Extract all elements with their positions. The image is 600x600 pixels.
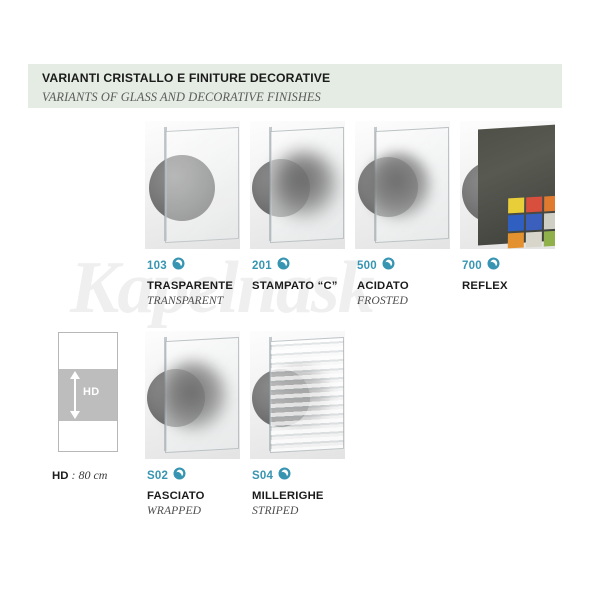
droplet-icon [382,257,395,275]
finish-code: S02 [147,470,168,482]
finish-name: MILLERIGHE [252,490,324,502]
finish-name: ACIDATO [357,280,409,292]
glass-sheen [165,127,239,243]
pane-outline [270,337,344,453]
hd-caption-value: : 80 cm [68,468,107,482]
code-row: 700 [462,258,508,274]
finish-code: 500 [357,260,377,272]
hd-band-label: HD [83,386,100,398]
code-row: S02 [147,468,205,484]
finish-code: 700 [462,260,482,272]
swatch [544,213,555,229]
hd-diagram: HD [58,332,118,452]
finish-name: FASCIATO [147,490,205,502]
code-row: 201 [252,258,338,274]
hd-caption-label: HD [52,470,68,482]
finish-name: REFLEX [462,280,508,292]
diffused-sphere [367,153,431,219]
color-swatch-chart [508,196,555,249]
finish-name: TRASPARENTE [147,280,233,292]
finish-image-201[interactable] [250,121,345,249]
hd-double-arrow-icon [69,371,81,419]
finish-image-S04[interactable] [250,331,345,459]
swatch [544,196,555,212]
swatch [508,215,524,231]
droplet-icon [173,467,186,485]
finish-name: STAMPATO “C” [252,280,338,292]
swatch [508,232,524,248]
diffused-sphere [161,361,227,431]
finish-image-700[interactable] [460,121,555,249]
finish-name-en: STRIPED [252,504,324,517]
finish-name-en: WRAPPED [147,504,205,517]
swatch [526,197,542,213]
finish-code: 201 [252,260,272,272]
swatch [508,198,524,214]
droplet-icon [487,257,500,275]
finish-caption-700: 700 REFLEX [462,258,508,294]
swatch [544,230,555,246]
code-row: 103 [147,258,233,274]
finish-name-en: TRANSPARENT [147,294,233,307]
finish-caption-103: 103 TRASPARENTE TRANSPARENT [147,258,233,307]
code-row: S04 [252,468,324,484]
swatch [526,214,542,230]
finish-image-103[interactable] [145,121,240,249]
droplet-icon [172,257,185,275]
code-row: 500 [357,258,409,274]
page-title: VARIANTI CRISTALLO E FINITURE DECORATIVE [42,71,330,85]
finish-caption-S04: S04 MILLERIGHE STRIPED [252,468,324,517]
page-subtitle: VARIANTS OF GLASS AND DECORATIVE FINISHE… [42,90,321,105]
finish-caption-500: 500 ACIDATO FROSTED [357,258,409,307]
finish-code: 103 [147,260,167,272]
finish-caption-201: 201 STAMPATO “C” [252,258,338,294]
finish-code: S04 [252,470,273,482]
finish-name-en: FROSTED [357,294,409,307]
finish-image-500[interactable] [355,121,450,249]
finish-caption-S02: S02 FASCIATO WRAPPED [147,468,205,517]
hd-caption: HD : 80 cm [52,468,107,483]
droplet-icon [277,257,290,275]
finish-image-S02[interactable] [145,331,240,459]
droplet-icon [278,467,291,485]
swatch [526,231,542,247]
diffused-sphere [272,151,338,219]
